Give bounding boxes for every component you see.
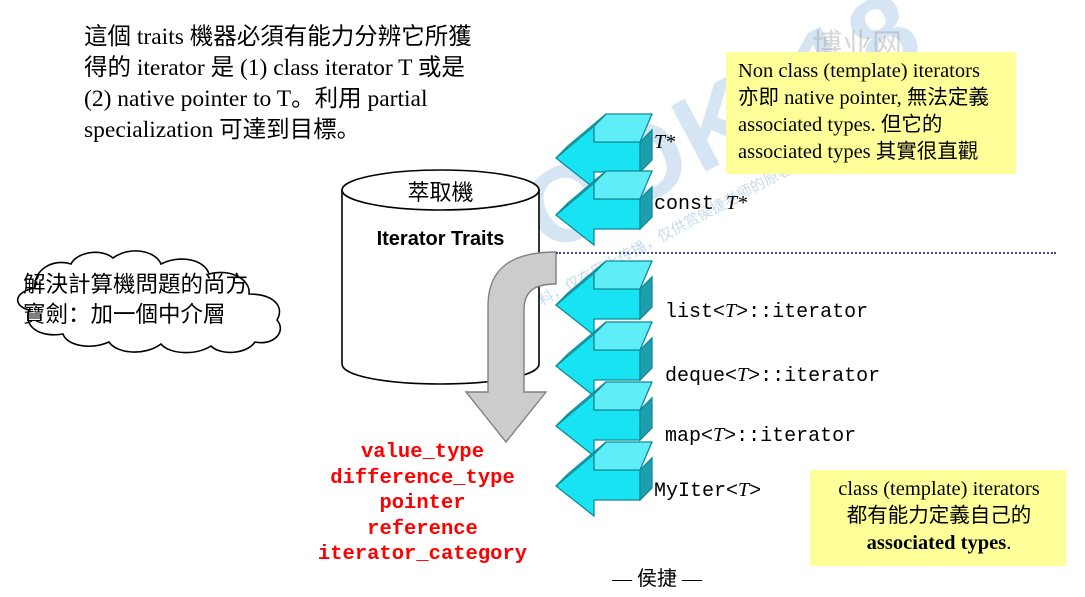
iterator-label-myiter: MyIter<T> (654, 479, 761, 503)
cloud-line-2: 寶劍：加一個中介層 (23, 300, 303, 330)
intro-line-4: specialization 可達到目標。 (84, 115, 554, 146)
associated-type-pointer: pointer (290, 491, 555, 517)
note-bottom-period: . (1006, 532, 1011, 554)
associated-types-list: value_type difference_type pointer refer… (290, 440, 555, 568)
iterator-label-list-param: T (725, 300, 736, 322)
iterator-label-list-prefix: list< (665, 301, 725, 324)
cloud-text: 解決計算機問題的尚方 寶劍：加一個中介層 (23, 270, 303, 330)
iterator-label-const-type: T* (726, 192, 747, 214)
note-bottom-line-1: class (template) iterators (822, 476, 1056, 503)
note-top-line-3: associated types. 但它的 (738, 112, 1006, 139)
iterator-label-const-t-pointer: const T* (654, 192, 747, 216)
associated-type-difference-type: difference_type (290, 466, 555, 492)
iterator-label-deque-suffix: >::iterator (748, 365, 880, 388)
cloud-line-1: 解決計算機問題的尚方 (23, 270, 303, 300)
iterator-label-map: map<T>::iterator (665, 424, 856, 448)
iterator-label-const-keyword: const (654, 193, 726, 216)
iterator-label-list: list<T>::iterator (665, 300, 868, 324)
intro-line-2: 得的 iterator 是 (1) class iterator T 或是 (84, 53, 554, 84)
note-bottom-line-2: 都有能力定義自己的 (822, 503, 1056, 530)
intro-line-1: 這個 traits 機器必須有能力分辨它所獲 (84, 22, 554, 53)
cloud-callout: 解決計算機問題的尚方 寶劍：加一個中介層 (5, 248, 315, 358)
iterator-label-list-suffix: >::iterator (736, 301, 868, 324)
note-non-class-iterators: Non class (template) iterators 亦即 native… (726, 52, 1016, 174)
iterator-label-deque: deque<T>::iterator (665, 364, 880, 388)
cyan-arrow-1 (556, 114, 652, 188)
note-class-iterators: class (template) iterators 都有能力定義自己的 ass… (810, 470, 1066, 566)
iterator-label-map-suffix: >::iterator (724, 425, 856, 448)
note-top-line-1: Non class (template) iterators (738, 58, 1006, 85)
note-bottom-line-3: associated types. (822, 530, 1056, 557)
iterator-label-t-pointer: T* (654, 131, 675, 155)
associated-type-reference: reference (290, 517, 555, 543)
dotted-divider (556, 252, 1056, 254)
iterator-label-myiter-prefix: MyIter< (654, 480, 738, 503)
note-bottom-emphasis: associated types (867, 532, 1007, 554)
iterator-label-deque-prefix: deque< (665, 365, 737, 388)
iterator-label-myiter-param: T (738, 479, 749, 501)
cylinder-label-english: Iterator Traits (338, 228, 543, 251)
associated-type-iterator-category: iterator_category (290, 542, 555, 568)
note-top-line-2: 亦即 native pointer, 無法定義 (738, 85, 1006, 112)
cyan-arrow-6 (556, 442, 652, 516)
cylinder-label-chinese: 萃取機 (338, 175, 543, 207)
iterator-label-t-pointer-type: T* (654, 131, 675, 153)
iterator-label-myiter-suffix: > (749, 480, 761, 503)
iterator-label-map-prefix: map< (665, 425, 713, 448)
iterator-label-map-param: T (713, 424, 724, 446)
intro-line-3: (2) native pointer to T。利用 partial (84, 84, 554, 115)
cyan-arrow-5 (556, 382, 652, 456)
note-top-line-4: associated types 其實很直觀 (738, 139, 1006, 166)
slide-canvas: BOOK118 本文由汉汉供剪辑资料，仅在网上传播，仅供赏侯捷老师的原著之作 博… (0, 0, 1085, 597)
intro-paragraph: 這個 traits 機器必須有能力分辨它所獲 得的 iterator 是 (1)… (84, 22, 554, 146)
cyan-arrow-3 (556, 261, 652, 335)
cyan-arrow-4 (556, 322, 652, 396)
author-signature: — 侯捷 — (612, 562, 702, 591)
iterator-label-deque-param: T (737, 364, 748, 386)
associated-type-value-type: value_type (290, 440, 555, 466)
cyan-arrow-2 (556, 171, 652, 245)
